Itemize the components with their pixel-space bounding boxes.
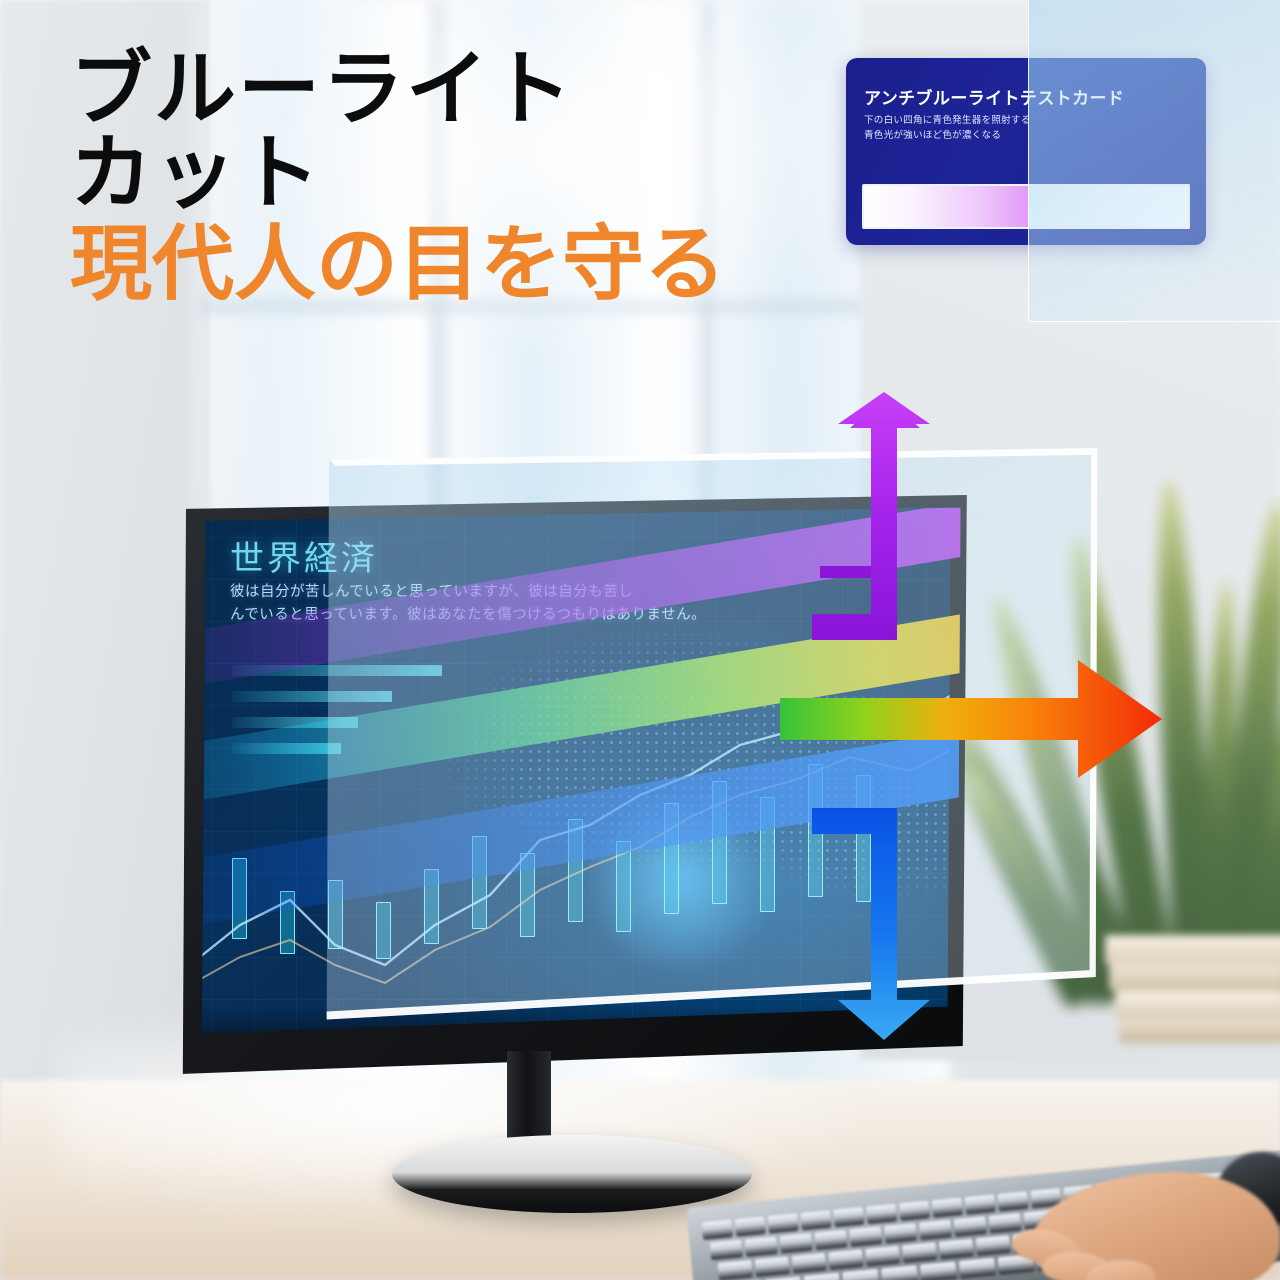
keyboard-key <box>718 1260 753 1280</box>
typing-hand <box>990 1160 1280 1280</box>
keyboard-key <box>744 1236 777 1256</box>
advertisement-canvas: 世界経済 彼は自分が苦しんでいると思っていますが、彼は自分も苦し んでいると思っ… <box>0 0 1280 1280</box>
keyboard-key <box>865 1246 900 1266</box>
test-card-title: アンチブルーライトテストカード <box>864 84 1124 109</box>
keyboard-key <box>920 1261 957 1280</box>
keyboard-key <box>833 1207 864 1227</box>
keyboard-key <box>828 1249 863 1269</box>
keyboard-key <box>734 1217 765 1237</box>
test-card-strip-filtered-region <box>1028 184 1190 229</box>
book-stack <box>1105 935 1280 1075</box>
keyboard-key <box>932 1198 963 1218</box>
snake-plant <box>1055 300 1280 1000</box>
keyboard-key <box>702 1220 733 1240</box>
keyboard-key <box>881 1265 918 1280</box>
keyboard-key <box>710 1240 743 1260</box>
keyboard-key <box>939 1239 974 1259</box>
test-card-description-line-1: 下の白い四角に青色発生器を照射する <box>864 114 1114 129</box>
keyboard-key <box>899 1201 930 1221</box>
test-card-description-line-2: 青色光が強いほど色が濃くなる <box>864 129 1114 144</box>
keyboard-key <box>849 1226 882 1246</box>
headline-block: ブルーライト カット 現代人の目を守る <box>70 48 790 307</box>
keyboard-key <box>902 1242 937 1262</box>
keyboard-key <box>953 1216 986 1236</box>
anti-blue-light-test-card: アンチブルーライトテストカード 下の白い四角に青色発生器を照射する 青色光が強い… <box>846 58 1206 245</box>
keyboard-key <box>754 1256 789 1276</box>
keyboard-key <box>800 1210 831 1230</box>
headline-line-2: カット <box>70 132 790 216</box>
keyboard-key <box>919 1220 952 1240</box>
keyboard-key <box>884 1223 917 1243</box>
keyboard-key <box>814 1230 847 1250</box>
monitor-stand-base <box>392 1135 752 1213</box>
keyboard-key <box>866 1204 897 1224</box>
keyboard-key <box>791 1253 826 1273</box>
headline-line-1: ブルーライト <box>70 48 790 132</box>
headline-line-3: 現代人の目を守る <box>70 223 790 307</box>
keyboard-key <box>779 1233 812 1253</box>
test-card-description: 下の白い四角に青色発生器を照射する 青色光が強いほど色が濃くなる <box>864 114 1114 144</box>
keyboard-key <box>767 1213 798 1233</box>
